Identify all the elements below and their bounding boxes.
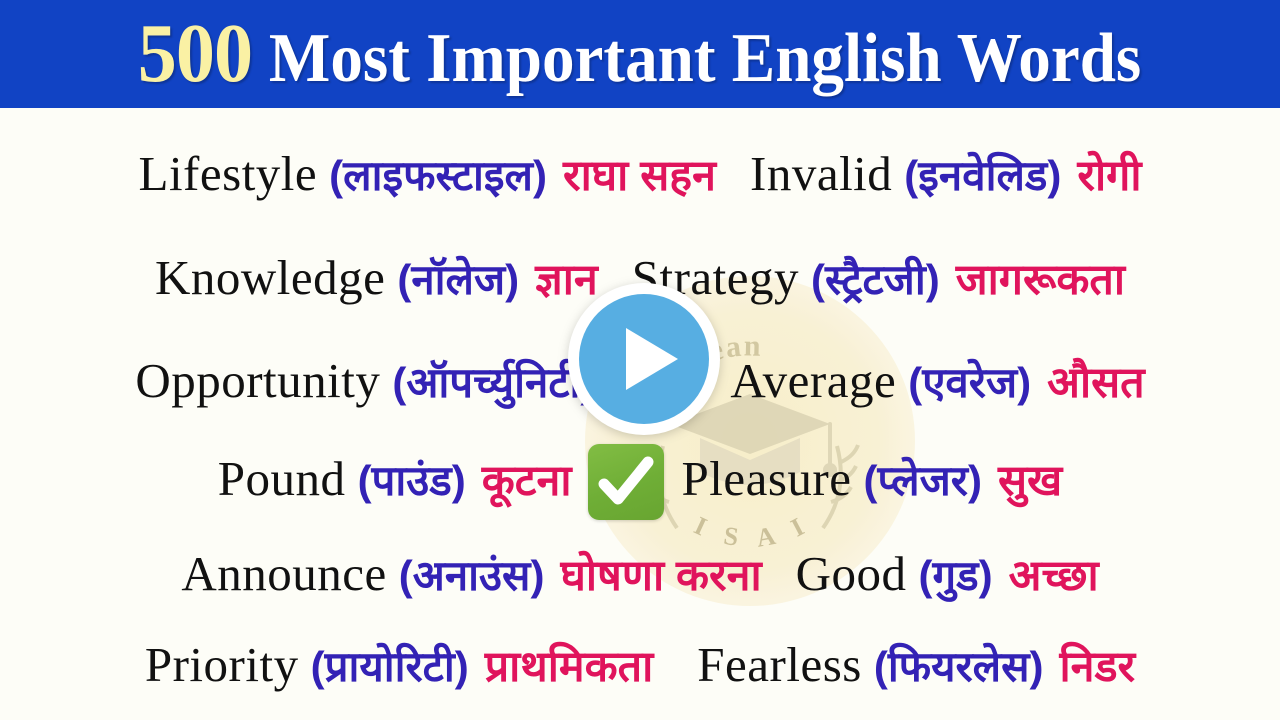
word-entry: Knowledge (नॉलेज) ज्ञान bbox=[155, 248, 598, 307]
hindi-meaning: कूटना bbox=[482, 449, 572, 508]
check-mark-icon bbox=[588, 444, 664, 520]
transliteration: (पाउंड) bbox=[358, 451, 466, 508]
english-word: Pound bbox=[218, 450, 346, 507]
transliteration: (अनाउंस) bbox=[399, 546, 545, 603]
hindi-meaning: राघा सहन bbox=[563, 144, 716, 203]
header-banner: 500 Most Important English Words bbox=[0, 0, 1280, 108]
english-word: Priority bbox=[145, 636, 299, 693]
word-entry: Pound (पाउंड) कूटना bbox=[218, 449, 572, 508]
transliteration: (प्रायोरिटी) bbox=[311, 637, 469, 694]
word-entry: Priority (प्रायोरिटी) प्राथमिकता bbox=[145, 635, 653, 694]
transliteration: (गुड) bbox=[919, 546, 993, 603]
hindi-meaning: जागरूकता bbox=[956, 248, 1125, 307]
check-mark-badge[interactable] bbox=[588, 444, 664, 520]
hindi-meaning: घोषणा करना bbox=[560, 544, 761, 603]
transliteration: (प्लेजर) bbox=[863, 451, 981, 508]
transliteration: (एवरेज) bbox=[908, 353, 1031, 410]
english-word: Fearless bbox=[697, 636, 862, 693]
hindi-meaning: रोगी bbox=[1077, 144, 1141, 203]
page-title: Most Important English Words bbox=[269, 24, 1141, 94]
word-entry: Invalid (इनवेलिड) रोगी bbox=[750, 144, 1141, 203]
word-entry: Opportunity (ऑपर्च्युनिटी) bbox=[135, 352, 610, 410]
english-word: Announce bbox=[181, 545, 386, 602]
word-row: Lifestyle (लाइफस्टाइल) राघा सहन Invalid … bbox=[0, 144, 1280, 203]
word-entry: Average (एवरेज) औसत bbox=[730, 351, 1144, 410]
english-word: Opportunity bbox=[135, 352, 380, 409]
word-row: Priority (प्रायोरिटी) प्राथमिकता Fearles… bbox=[0, 635, 1280, 694]
hindi-meaning: अच्छा bbox=[1009, 544, 1099, 603]
play-triangle-icon bbox=[626, 328, 678, 390]
transliteration: (नॉलेज) bbox=[397, 250, 519, 307]
english-word: Lifestyle bbox=[139, 145, 318, 202]
transliteration: (इनवेलिड) bbox=[904, 146, 1061, 203]
english-word: Pleasure bbox=[681, 450, 851, 507]
english-word: Knowledge bbox=[155, 249, 385, 306]
header-banner-content: 500 Most Important English Words bbox=[138, 12, 1141, 96]
play-button[interactable] bbox=[568, 283, 720, 435]
hindi-meaning: प्राथमिकता bbox=[485, 635, 654, 694]
transliteration: (स्ट्रैटजी) bbox=[811, 250, 940, 307]
hindi-meaning: निडर bbox=[1060, 635, 1136, 694]
english-word: Invalid bbox=[750, 145, 892, 202]
word-entry: Good (गुड) अच्छा bbox=[796, 544, 1099, 603]
word-count: 500 bbox=[138, 12, 252, 96]
word-entry: Lifestyle (लाइफस्टाइल) राघा सहन bbox=[139, 144, 716, 203]
word-entry: Fearless (फियरलेस) निडर bbox=[697, 635, 1135, 694]
word-entry: Pleasure (प्लेजर) सुख bbox=[681, 449, 1062, 508]
english-word: Good bbox=[796, 545, 907, 602]
word-entry: Announce (अनाउंस) घोषणा करना bbox=[181, 544, 761, 603]
hindi-meaning: औसत bbox=[1047, 351, 1145, 410]
transliteration: (फियरलेस) bbox=[874, 637, 1044, 694]
transliteration: (ऑपर्च्युनिटी) bbox=[392, 353, 594, 410]
hindi-meaning: सुख bbox=[998, 449, 1062, 508]
english-word: Average bbox=[730, 352, 896, 409]
transliteration: (लाइफस्टाइल) bbox=[329, 146, 547, 203]
word-row: Announce (अनाउंस) घोषणा करना Good (गुड) … bbox=[0, 544, 1280, 603]
